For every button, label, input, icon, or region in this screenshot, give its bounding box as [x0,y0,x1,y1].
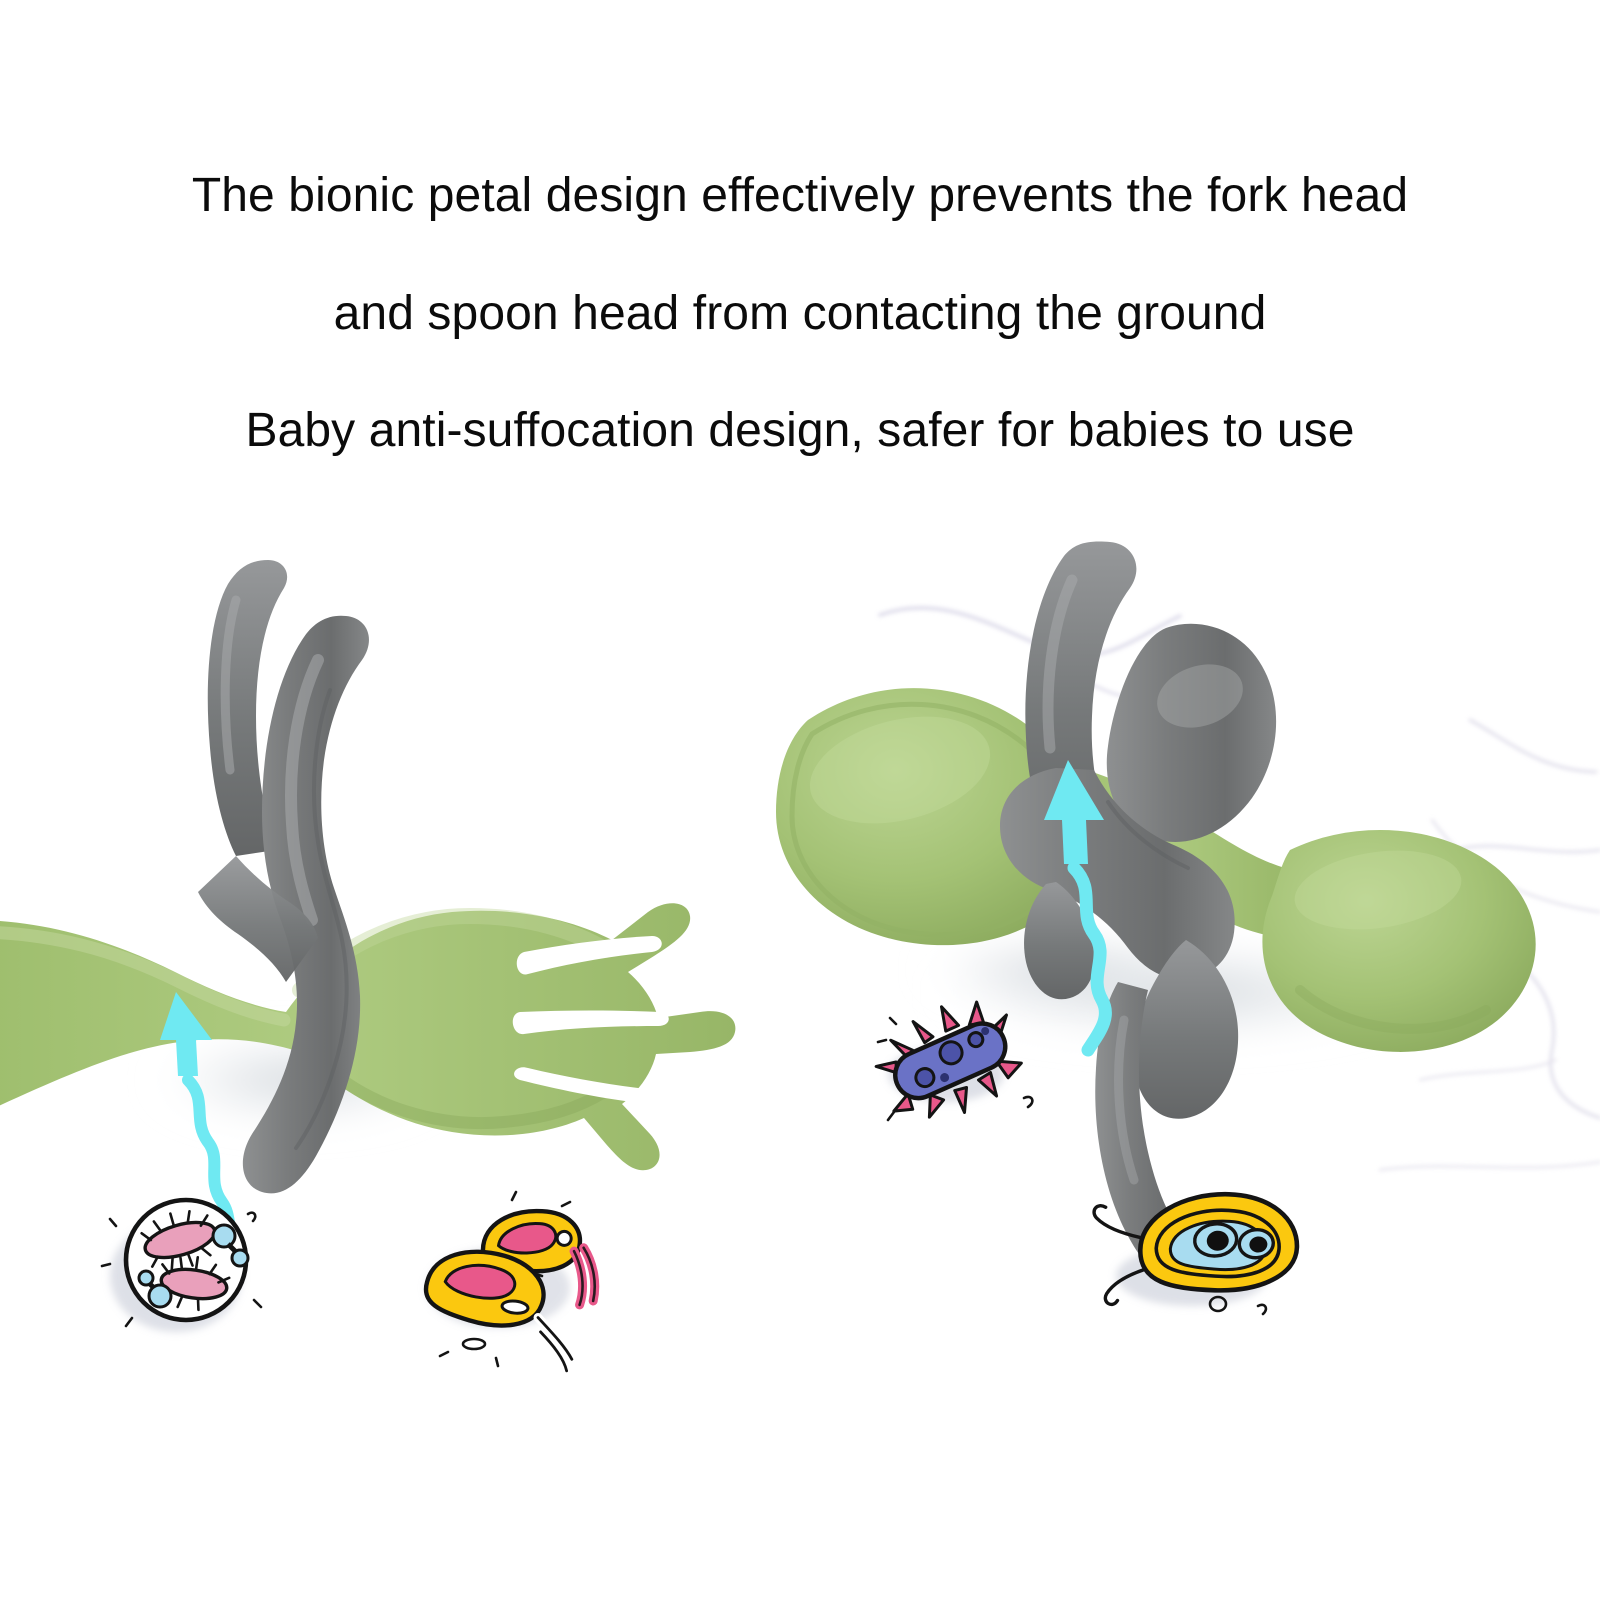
germ-cluster-round [102,1200,261,1332]
headline-line-1: The bionic petal design effectively prev… [0,172,1600,220]
headline-line-3: Baby anti-suffocation design, safer for … [0,407,1600,455]
headline-line-2: and spoon head from contacting the groun… [0,290,1600,338]
product-scene [0,520,1600,1400]
product-infographic: The bionic petal design effectively prev… [0,0,1600,1600]
fork-utensil [0,560,735,1242]
germ-yellow-pair [419,1192,598,1371]
